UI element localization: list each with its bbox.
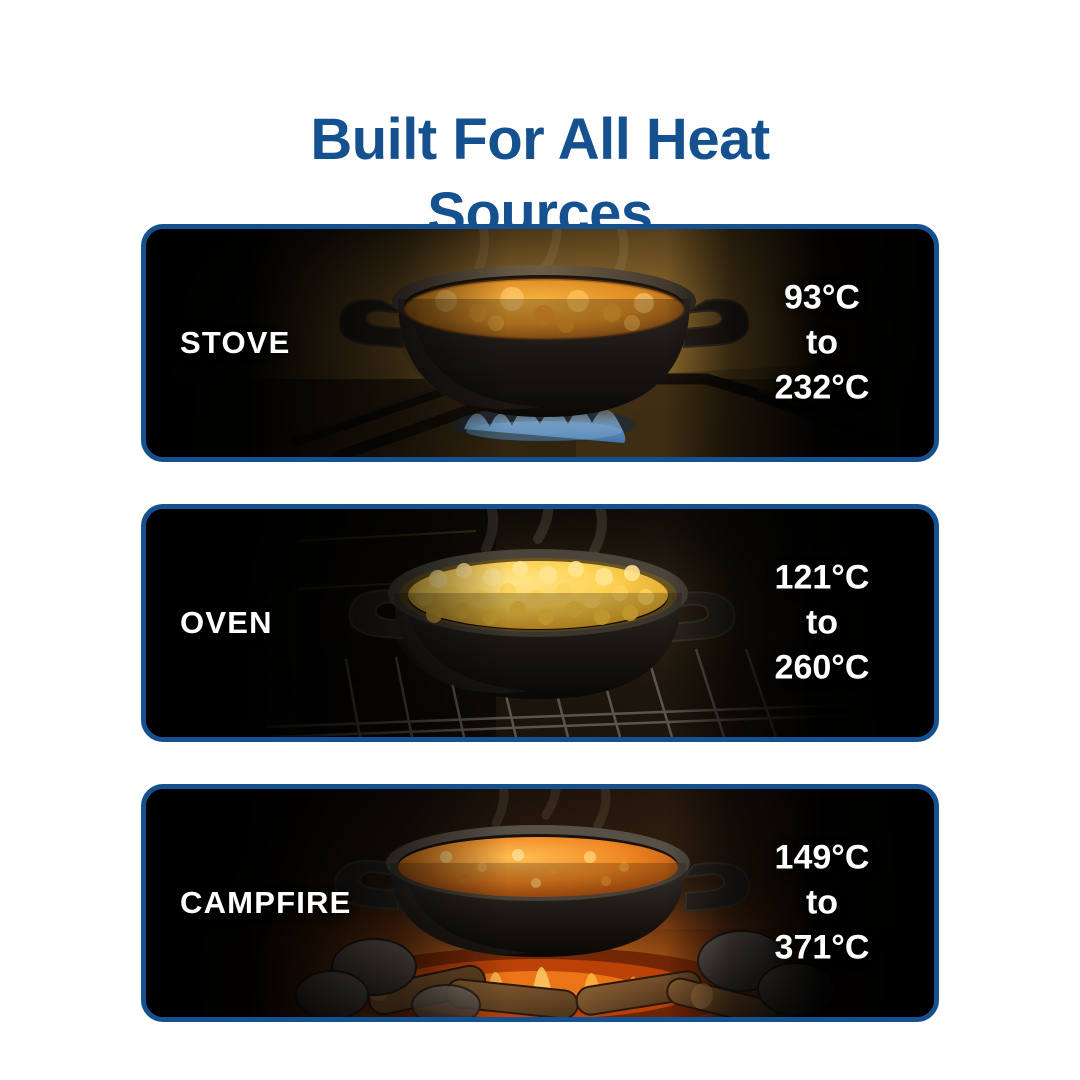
temp-connector: to xyxy=(734,881,910,926)
card-label-oven: OVEN xyxy=(180,605,273,641)
heat-source-card-list: STOVE 93°C to 232°C xyxy=(141,224,939,1022)
temp-low: 121°C xyxy=(734,556,910,601)
card-label-campfire: CAMPFIRE xyxy=(180,885,352,921)
card-temperature-campfire: 149°C to 371°C xyxy=(734,836,910,971)
temp-connector: to xyxy=(734,321,910,366)
card-label-stove: STOVE xyxy=(180,325,291,361)
heat-source-card-stove[interactable]: STOVE 93°C to 232°C xyxy=(141,224,939,462)
temp-high: 232°C xyxy=(734,366,910,411)
heat-source-card-campfire[interactable]: CAMPFIRE 149°C to 371°C xyxy=(141,784,939,1022)
temp-low: 149°C xyxy=(734,836,910,881)
infographic-page: Built For All Heat Sources xyxy=(0,0,1080,1080)
temp-low: 93°C xyxy=(734,276,910,321)
card-temperature-oven: 121°C to 260°C xyxy=(734,556,910,691)
temp-connector: to xyxy=(734,601,910,646)
temp-high: 260°C xyxy=(734,646,910,691)
heat-source-card-oven[interactable]: OVEN 121°C to 260°C xyxy=(141,504,939,742)
temp-high: 371°C xyxy=(734,926,910,971)
card-temperature-stove: 93°C to 232°C xyxy=(734,276,910,411)
